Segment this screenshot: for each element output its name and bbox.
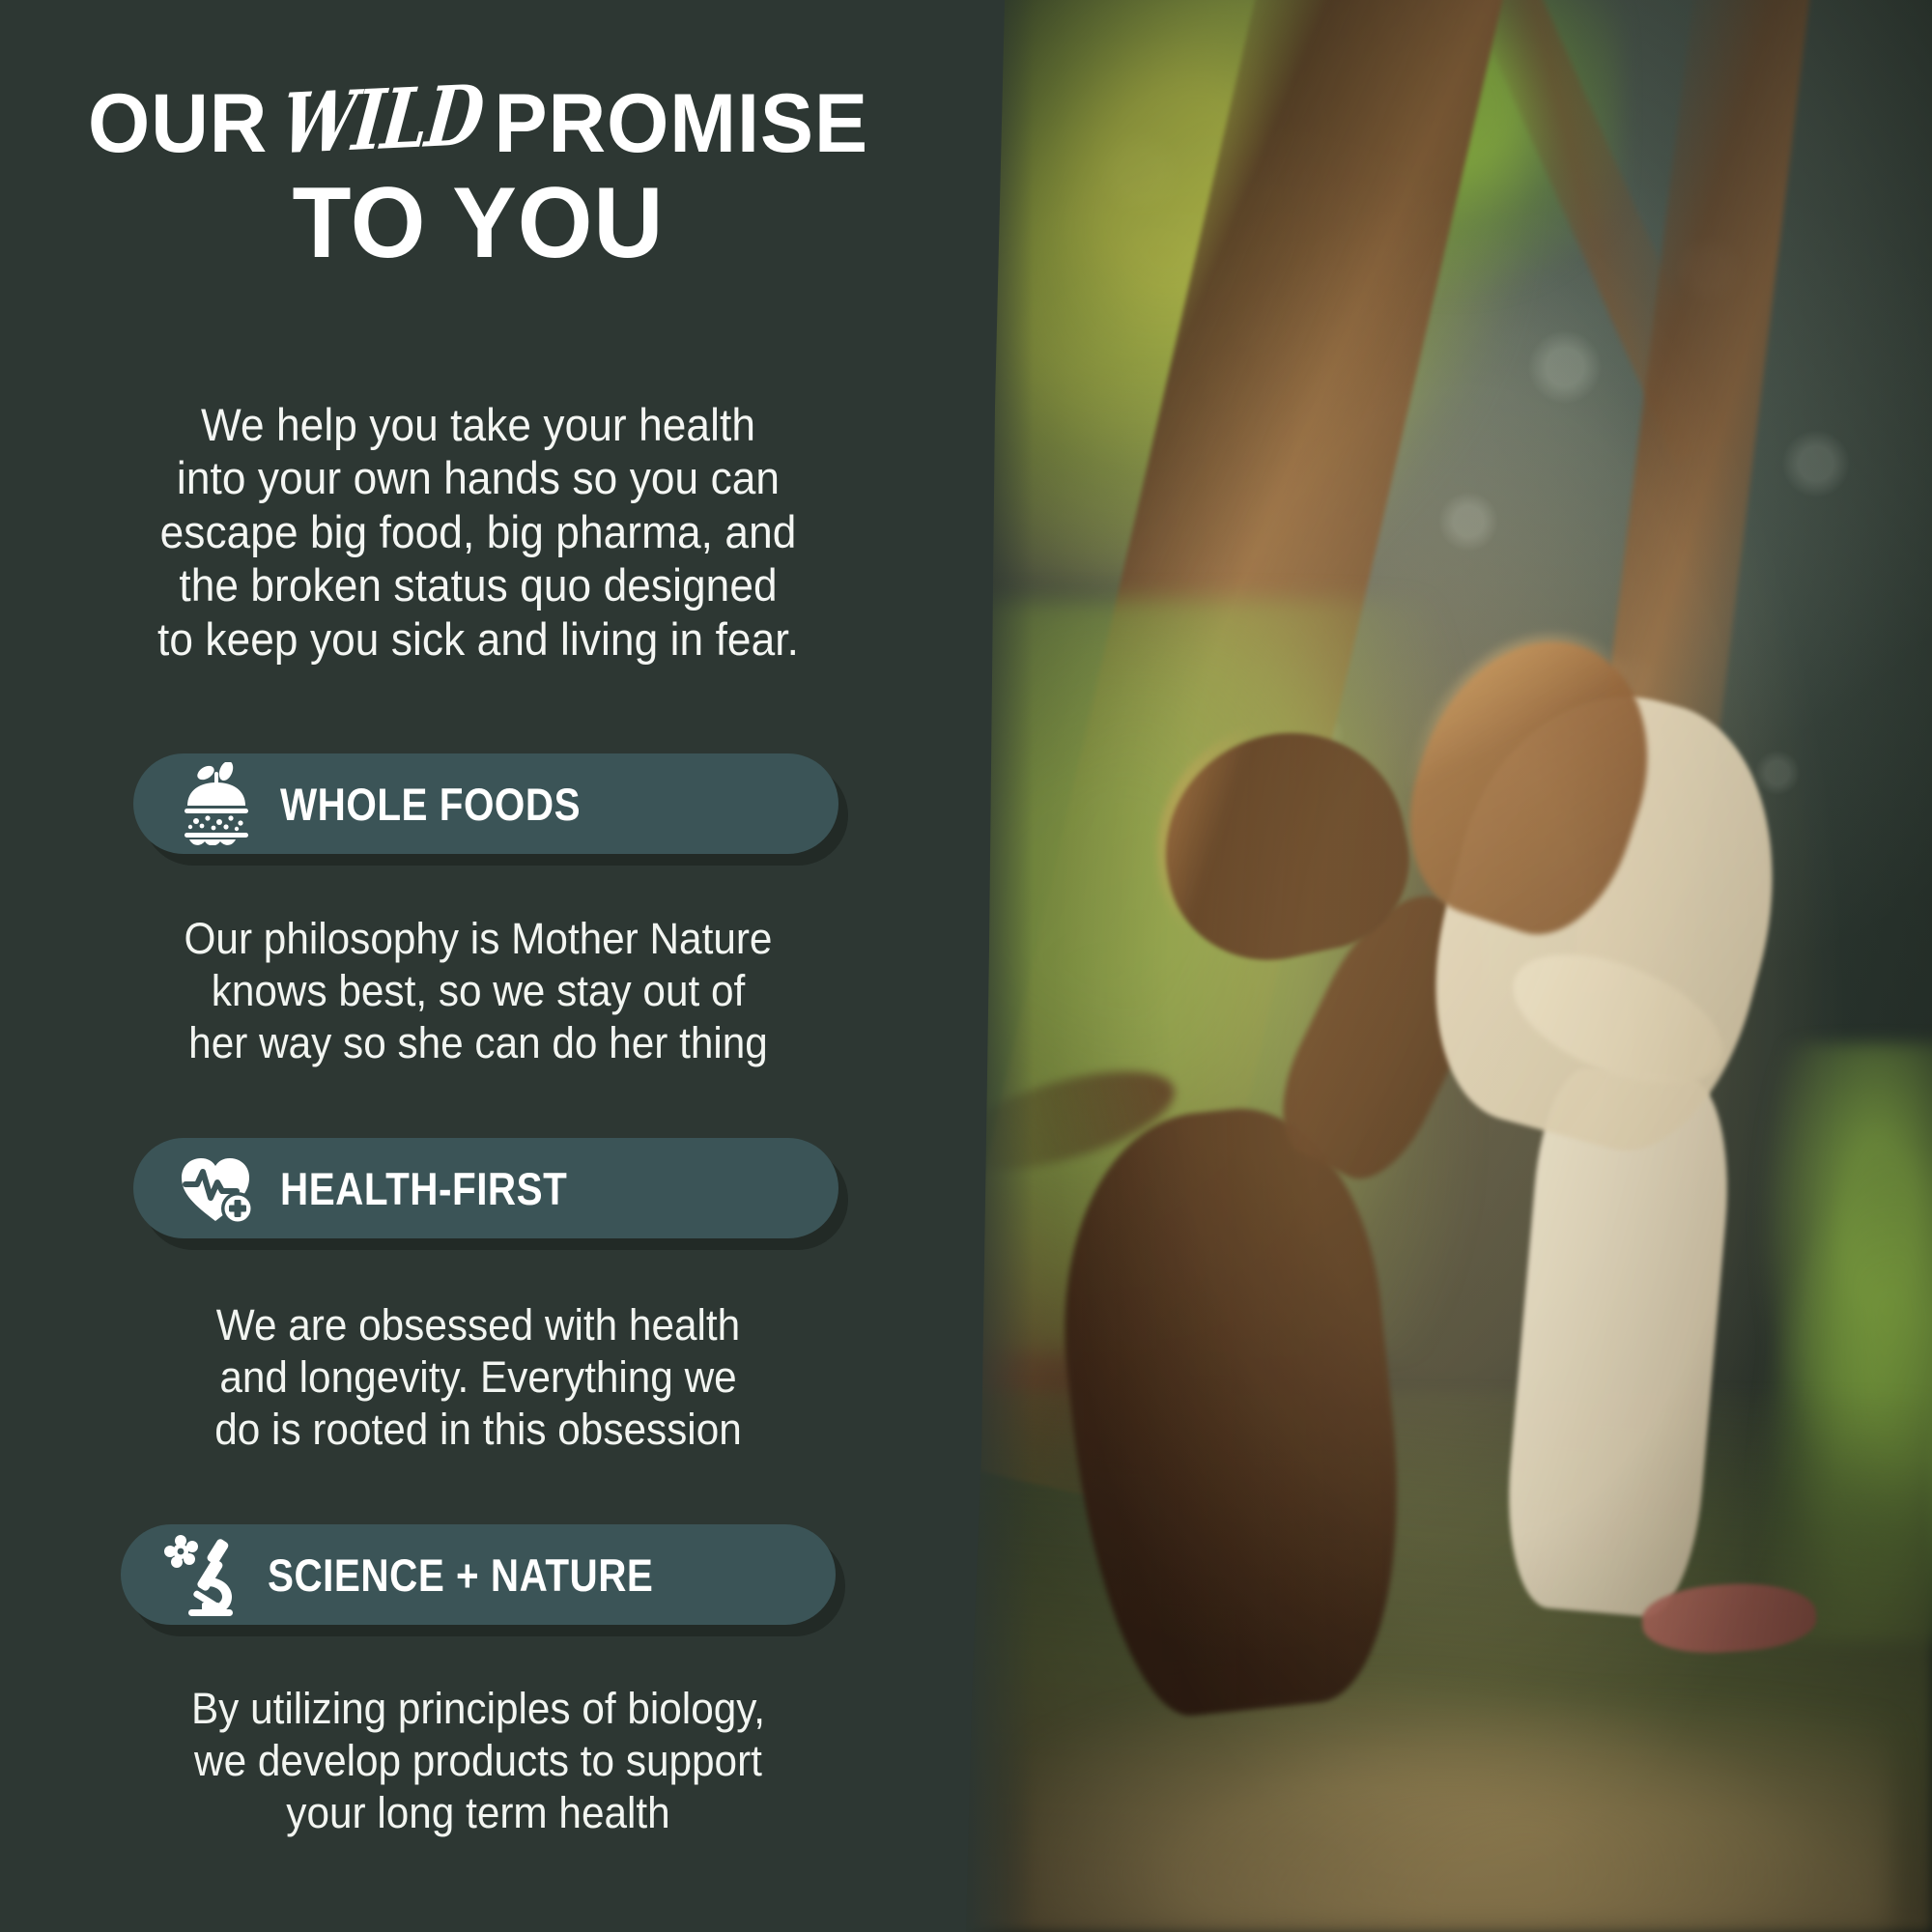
feature-description-whole-foods: Our philosophy is Mother Nature knows be… bbox=[29, 913, 928, 1069]
headline-line-2: TO YOU bbox=[19, 173, 937, 273]
intro-line: the broken status quo designed bbox=[29, 558, 928, 611]
feature-description-line: her way so she can do her thing bbox=[29, 1017, 928, 1069]
feature-description-line: do is rooted in this obsession bbox=[29, 1404, 928, 1456]
page-title: OURWILDPROMISE TO YOU bbox=[0, 81, 956, 273]
headline-word-promise: PROMISE bbox=[495, 81, 868, 167]
feature-description-health-first: We are obsessed with health and longevit… bbox=[29, 1299, 928, 1456]
headline-line-1: OURWILDPROMISE bbox=[19, 81, 937, 167]
feature-description-line: and longevity. Everything we bbox=[29, 1351, 928, 1404]
feature-description-science-nature: By utilizing principles of biology, we d… bbox=[29, 1683, 928, 1839]
feature-description-line: your long term health bbox=[29, 1787, 928, 1839]
feature-badge-label: WHOLE FOODS bbox=[280, 778, 581, 831]
intro-line: to keep you sick and living in fear. bbox=[29, 612, 928, 666]
feature-description-line: Our philosophy is Mother Nature bbox=[29, 913, 928, 965]
feature-badge-label: SCIENCE + NATURE bbox=[268, 1548, 653, 1602]
feature-badge-whole-foods[interactable]: WHOLE FOODS bbox=[133, 753, 838, 854]
feature-description-line: By utilizing principles of biology, bbox=[29, 1683, 928, 1735]
promise-graphic: OURWILDPROMISE TO YOU We help you take y… bbox=[0, 0, 1932, 1932]
intro-line: We help you take your health bbox=[29, 398, 928, 451]
intro-line: escape big food, big pharma, and bbox=[29, 505, 928, 558]
heart-pulse-plus-icon bbox=[158, 1150, 274, 1227]
feature-badge-label: HEALTH-FIRST bbox=[280, 1162, 567, 1215]
content-panel: OURWILDPROMISE TO YOU We help you take y… bbox=[0, 0, 1024, 1932]
feature-description-line: We are obsessed with health bbox=[29, 1299, 928, 1351]
intro-paragraph: We help you take your health into your o… bbox=[29, 398, 928, 666]
feature-badge-science-nature[interactable]: SCIENCE + NATURE bbox=[121, 1524, 836, 1625]
whole-foods-burger-sprout-icon bbox=[158, 762, 274, 845]
microscope-cell-icon bbox=[146, 1533, 262, 1616]
feature-description-line: knows best, so we stay out of bbox=[29, 965, 928, 1017]
intro-line: into your own hands so you can bbox=[29, 451, 928, 504]
lifestyle-photo bbox=[966, 0, 1932, 1932]
feature-description-line: we develop products to support bbox=[29, 1735, 928, 1787]
headline-word-wild-script: WILD bbox=[277, 72, 486, 167]
photo-vignette bbox=[966, 0, 1932, 1932]
feature-badge-health-first[interactable]: HEALTH-FIRST bbox=[133, 1138, 838, 1238]
headline-word-our: OUR bbox=[88, 81, 268, 167]
